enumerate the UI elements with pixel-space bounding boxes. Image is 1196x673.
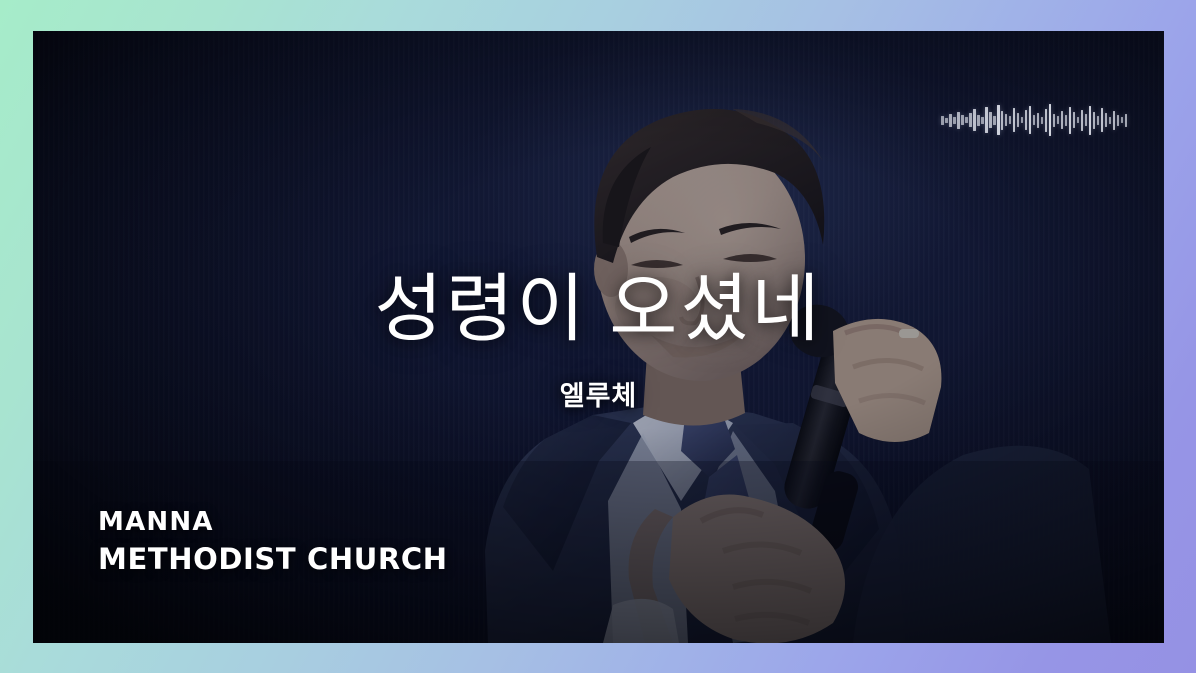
waveform-bar bbox=[981, 117, 983, 124]
waveform-bar bbox=[1017, 113, 1019, 127]
waveform-bar bbox=[969, 113, 971, 127]
waveform-bar bbox=[993, 116, 995, 125]
waveform-bar bbox=[1073, 112, 1075, 128]
waveform-bar bbox=[1049, 104, 1051, 136]
waveform-bar bbox=[1125, 114, 1127, 127]
waveform-bar bbox=[941, 116, 943, 125]
waveform-bar bbox=[1065, 115, 1067, 126]
waveform-bar bbox=[1113, 111, 1115, 130]
waveform-bar bbox=[1021, 117, 1023, 123]
song-title: 성령이 오셨네 bbox=[33, 271, 1164, 349]
waveform-bar bbox=[1041, 117, 1043, 124]
waveform-bar bbox=[985, 107, 987, 133]
waveform-bar bbox=[945, 118, 947, 123]
waveform-bar bbox=[1005, 114, 1007, 126]
song-artist: 엘루체 bbox=[33, 374, 1164, 413]
waveform-bar bbox=[1001, 111, 1003, 130]
church-wordmark: MANNA METHODIST CHURCH bbox=[98, 506, 448, 577]
waveform-bar bbox=[1121, 117, 1123, 123]
waveform-bar bbox=[949, 114, 951, 127]
waveform-bar bbox=[989, 112, 991, 128]
waveform-bar bbox=[1077, 117, 1079, 123]
waveform-bar bbox=[1109, 117, 1111, 124]
waveform-bar bbox=[1061, 111, 1063, 129]
video-player-frame[interactable]: 성령이 오셨네 엘루체 MANNA METHODIST CHURCH bbox=[33, 31, 1164, 643]
waveform-bar bbox=[1093, 112, 1095, 129]
waveform-bar bbox=[1085, 114, 1087, 126]
waveform-bar bbox=[997, 105, 999, 135]
waveform-bar bbox=[1037, 113, 1039, 128]
church-name-primary: MANNA bbox=[98, 506, 448, 539]
waveform-bar bbox=[1033, 115, 1035, 125]
waveform-bar bbox=[1117, 115, 1119, 126]
audio-waveform-icon bbox=[941, 103, 1127, 137]
waveform-bar bbox=[1069, 107, 1071, 134]
waveform-bar bbox=[1013, 108, 1015, 132]
waveform-bar bbox=[977, 115, 979, 126]
waveform-bar bbox=[1081, 110, 1083, 131]
church-name-secondary: METHODIST CHURCH bbox=[98, 541, 448, 577]
waveform-bar bbox=[1053, 114, 1055, 127]
waveform-bar bbox=[1097, 116, 1099, 125]
waveform-bar bbox=[973, 109, 975, 131]
waveform-bar bbox=[1057, 116, 1059, 124]
waveform-bar bbox=[957, 112, 959, 129]
waveform-bar bbox=[1089, 106, 1091, 135]
waveform-bar bbox=[1045, 109, 1047, 132]
waveform-bar bbox=[961, 115, 963, 125]
waveform-bar bbox=[1029, 106, 1031, 134]
waveform-bar bbox=[965, 117, 967, 123]
waveform-bar bbox=[1009, 116, 1011, 124]
waveform-bar bbox=[1101, 108, 1103, 132]
waveform-bar bbox=[1025, 110, 1027, 130]
waveform-bar bbox=[1105, 113, 1107, 127]
waveform-bar bbox=[953, 117, 955, 124]
